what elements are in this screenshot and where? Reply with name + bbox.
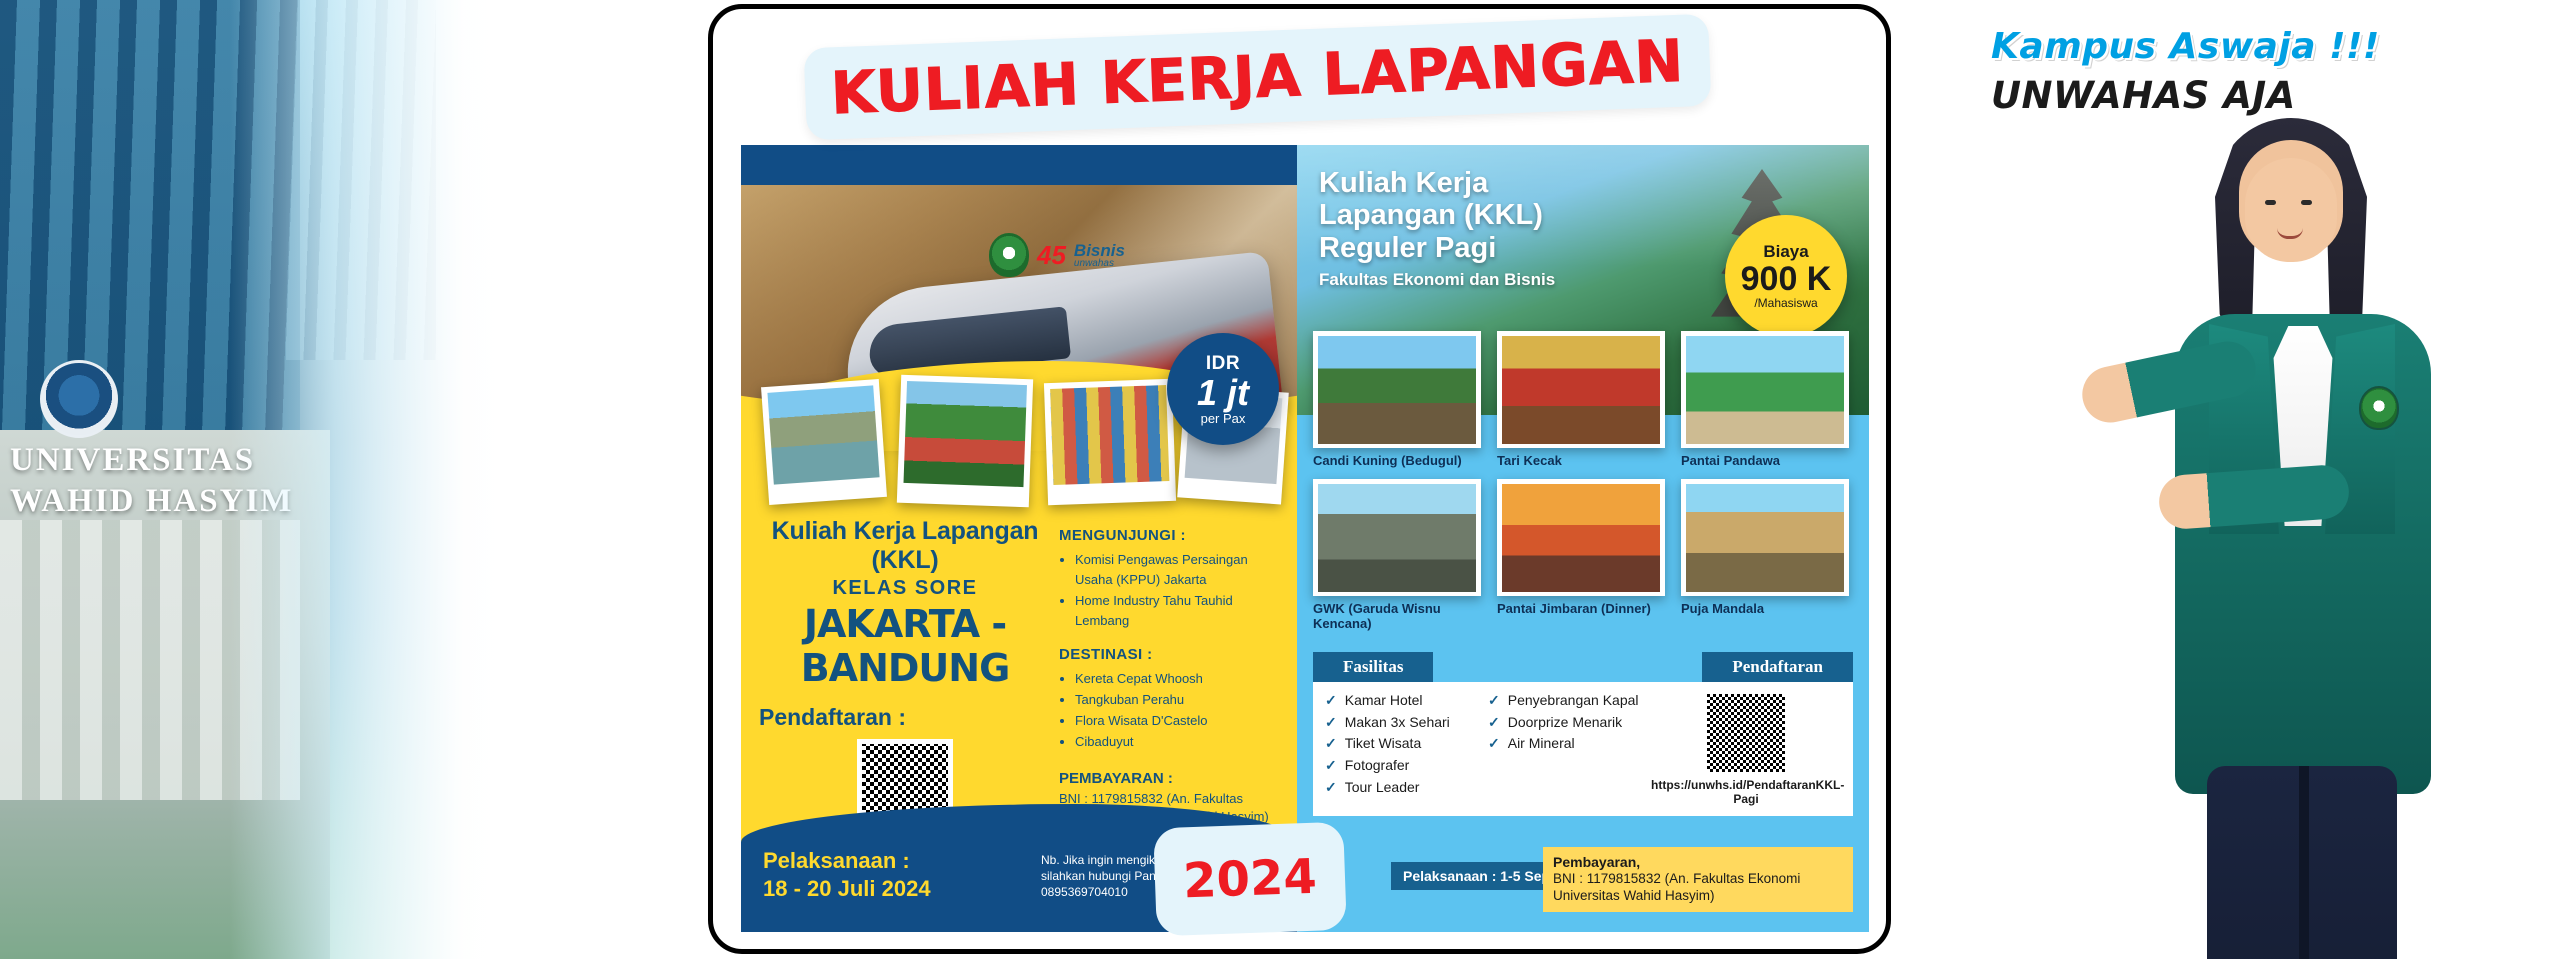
sore-schedule: Pelaksanaan : 18 - 20 Juli 2024 xyxy=(763,848,1053,902)
candi-kuning-photo xyxy=(1313,331,1481,448)
facility-label: Kamar Hotel xyxy=(1345,690,1423,712)
list-item: ✓Air Mineral xyxy=(1488,733,1641,755)
pagi-payment-box: Pembayaran, BNI : 1179815832 (An. Fakult… xyxy=(1543,847,1853,912)
university-emblem-icon xyxy=(2359,386,2399,430)
faculty-logo: Bisnis unwahas xyxy=(1074,242,1125,269)
destination-cell: GWK (Garuda Wisnu Kencana) xyxy=(1313,479,1481,632)
facility-label: Makan 3x Sehari xyxy=(1345,712,1450,734)
fee-unit: /Mahasiswa xyxy=(1754,296,1817,310)
mascot-student xyxy=(2153,118,2453,959)
ribbon-text: KULIAH KERJA LAPANGAN xyxy=(830,27,1686,128)
faculty-logo-sub: unwahas xyxy=(1074,259,1125,269)
facility-label: Penyebrangan Kapal xyxy=(1508,690,1639,712)
destination-row: GWK (Garuda Wisnu Kencana) Pantai Jimbar… xyxy=(1313,479,1853,632)
university-seal-icon xyxy=(40,360,118,438)
poster-card: IDR 1 jt per Pax 45 Bisnis unwahas Kulia… xyxy=(708,4,1891,954)
facilities-list-2: ✓Penyebrangan Kapal ✓Doorprize Menarik ✓… xyxy=(1488,690,1641,755)
eye-left xyxy=(2265,200,2276,205)
sore-class-label: KELAS SORE xyxy=(759,577,1051,600)
list-item: ✓Doorprize Menarik xyxy=(1488,712,1641,734)
pantai-jimbaran-photo xyxy=(1497,479,1665,596)
price-value: 1 jt xyxy=(1197,375,1249,411)
destination-caption: Candi Kuning (Bedugul) xyxy=(1313,453,1481,469)
sore-right-column: MENGUNJUNGI : Komisi Pengawas Persaingan… xyxy=(1059,527,1287,827)
facilities-list-1: ✓Kamar Hotel ✓Makan 3x Sehari ✓Tiket Wis… xyxy=(1325,690,1478,798)
sore-title: Kuliah Kerja Lapangan (KKL) xyxy=(759,517,1051,575)
facility-label: Tiket Wisata xyxy=(1345,733,1422,755)
destination-caption: Tari Kecak xyxy=(1497,453,1665,469)
faculty-logo-main: Bisnis xyxy=(1074,242,1125,259)
list-item: Flora Wisata D'Castelo xyxy=(1075,711,1287,731)
gwk-photo xyxy=(1313,479,1481,596)
poster-kelas-sore: IDR 1 jt per Pax 45 Bisnis unwahas Kulia… xyxy=(741,145,1297,932)
pantai-pandawa-photo xyxy=(1681,331,1849,448)
check-icon: ✓ xyxy=(1488,712,1500,734)
list-item: ✓Kamar Hotel xyxy=(1325,690,1478,712)
check-icon: ✓ xyxy=(1325,755,1337,777)
facilities-section: Fasilitas Pendaftaran ✓Kamar Hotel ✓Maka… xyxy=(1313,652,1853,816)
sore-photo-3 xyxy=(1044,379,1176,505)
list-item: Kereta Cepat Whoosh xyxy=(1075,669,1287,689)
destination-cell: Pantai Jimbaran (Dinner) xyxy=(1497,479,1665,632)
facilities-heading: Fasilitas xyxy=(1313,652,1433,682)
face xyxy=(2245,158,2337,262)
sore-route: JAKARTA - BANDUNG xyxy=(759,602,1051,690)
list-item: ✓Fotografer xyxy=(1325,755,1478,777)
list-item: ✓Penyebrangan Kapal xyxy=(1488,690,1641,712)
list-item: Komisi Pengawas Persaingan Usaha (KPPU) … xyxy=(1075,550,1287,590)
fee-badge-pagi: Biaya 900 K /Mahasiswa xyxy=(1725,215,1847,337)
destination-caption: GWK (Garuda Wisnu Kencana) xyxy=(1313,601,1481,632)
check-icon: ✓ xyxy=(1325,777,1337,799)
year-badge: 2024 xyxy=(1153,822,1347,937)
tari-kecak-photo xyxy=(1497,331,1665,448)
pagi-destination-grid: Candi Kuning (Bedugul) Tari Kecak Pantai… xyxy=(1313,331,1853,632)
check-icon: ✓ xyxy=(1488,690,1500,712)
unwahas-seal-icon xyxy=(989,233,1029,277)
facilities-panel: ✓Kamar Hotel ✓Makan 3x Sehari ✓Tiket Wis… xyxy=(1313,682,1853,816)
poster-ribbon-title: KULIAH KERJA LAPANGAN xyxy=(804,14,1712,141)
qr-code-icon[interactable] xyxy=(1707,694,1785,772)
poster-columns: IDR 1 jt per Pax 45 Bisnis unwahas Kulia… xyxy=(741,145,1869,932)
destination-row: Candi Kuning (Bedugul) Tari Kecak Pantai… xyxy=(1313,331,1853,469)
list-item: ✓Tiket Wisata xyxy=(1325,733,1478,755)
pagi-registration-url[interactable]: https://unwhs.id/PendaftaranKKL-Pagi xyxy=(1651,778,1841,806)
destination-cell: Tari Kecak xyxy=(1497,331,1665,469)
anniversary-label: 45 xyxy=(1037,240,1066,271)
eye-right xyxy=(2301,200,2312,205)
campus-photo-panel: UNIVERSITAS WAHID HASYIM xyxy=(0,0,520,959)
pagi-footer: Pelaksanaan : 1-5 Sept. 2024 Pembayaran,… xyxy=(1297,824,1869,932)
puja-mandala-photo xyxy=(1681,479,1849,596)
sore-photo-1 xyxy=(761,379,887,505)
facility-label: Doorprize Menarik xyxy=(1508,712,1622,734)
sore-photo-2 xyxy=(897,375,1033,508)
destination-cell: Puja Mandala xyxy=(1681,479,1849,632)
schedule-label: Pelaksanaan : xyxy=(763,848,1053,874)
visit-list: Komisi Pengawas Persaingan Usaha (KPPU) … xyxy=(1075,550,1287,632)
destination-heading: DESTINASI : xyxy=(1059,646,1287,663)
pagi-title: Kuliah Kerja Lapangan (KKL) Reguler Pagi… xyxy=(1319,167,1619,290)
check-icon: ✓ xyxy=(1488,733,1500,755)
facilities-column-2: ✓Penyebrangan Kapal ✓Doorprize Menarik ✓… xyxy=(1488,690,1641,806)
sore-registration-label: Pendaftaran : xyxy=(759,704,1051,731)
tagline-line2: UNWAHAS AJA xyxy=(1991,74,2296,117)
pagi-registration-block: https://unwhs.id/PendaftaranKKL-Pagi xyxy=(1651,690,1841,806)
check-icon: ✓ xyxy=(1325,712,1337,734)
list-item: ✓Tour Leader xyxy=(1325,777,1478,799)
payment-heading: PEMBAYARAN : xyxy=(1059,770,1287,787)
year-text: 2024 xyxy=(1182,849,1317,910)
destination-caption: Pantai Pandawa xyxy=(1681,453,1849,469)
pagi-title-line1: Kuliah Kerja xyxy=(1319,167,1619,199)
facilities-column-1: ✓Kamar Hotel ✓Makan 3x Sehari ✓Tiket Wis… xyxy=(1325,690,1478,806)
payment-heading: Pembayaran, xyxy=(1553,854,1843,870)
fee-label: Biaya xyxy=(1763,242,1808,262)
facility-label: Fotografer xyxy=(1345,755,1410,777)
destination-cell: Candi Kuning (Bedugul) xyxy=(1313,331,1481,469)
price-badge-sore: IDR 1 jt per Pax xyxy=(1167,333,1279,445)
pagi-faculty: Fakultas Ekonomi dan Bisnis xyxy=(1319,270,1619,290)
sore-logo-row: 45 Bisnis unwahas xyxy=(989,233,1125,277)
facilities-header-row: Fasilitas Pendaftaran xyxy=(1313,652,1853,682)
tagline-line1: Kampus Aswaja !!! xyxy=(1991,26,2380,67)
registration-heading: Pendaftaran xyxy=(1702,652,1853,682)
payment-body: BNI : 1179815832 (An. Fakultas Ekonomi U… xyxy=(1553,870,1843,905)
pagi-title-line3: Reguler Pagi xyxy=(1319,232,1619,264)
fee-value: 900 K xyxy=(1741,262,1832,296)
facility-label: Tour Leader xyxy=(1345,777,1420,799)
promo-banner: UNIVERSITAS WAHID HASYIM IDR 1 jt p xyxy=(0,0,2560,959)
list-item: Cibaduyut xyxy=(1075,732,1287,752)
price-unit: per Pax xyxy=(1201,411,1246,426)
destination-cell: Pantai Pandawa xyxy=(1681,331,1849,469)
schedule-date: 18 - 20 Juli 2024 xyxy=(763,876,1053,902)
list-item: Home Industry Tahu Tauhid Lembang xyxy=(1075,591,1287,631)
tagline-panel: Kampus Aswaja !!! UNWAHAS AJA xyxy=(1891,0,2560,959)
list-item: ✓Makan 3x Sehari xyxy=(1325,712,1478,734)
check-icon: ✓ xyxy=(1325,733,1337,755)
list-item: Tangkuban Perahu xyxy=(1075,690,1287,710)
check-icon: ✓ xyxy=(1325,690,1337,712)
poster-reguler-pagi: Kuliah Kerja Lapangan (KKL) Reguler Pagi… xyxy=(1297,145,1869,932)
destination-list: Kereta Cepat Whoosh Tangkuban Perahu Flo… xyxy=(1075,669,1287,753)
trousers xyxy=(2207,766,2397,959)
photo-fade-overlay xyxy=(230,0,530,959)
visit-heading: MENGUNJUNGI : xyxy=(1059,527,1287,544)
destination-caption: Puja Mandala xyxy=(1681,601,1849,617)
pagi-title-line2: Lapangan (KKL) xyxy=(1319,199,1619,231)
facility-label: Air Mineral xyxy=(1508,733,1575,755)
destination-caption: Pantai Jimbaran (Dinner) xyxy=(1497,601,1665,617)
